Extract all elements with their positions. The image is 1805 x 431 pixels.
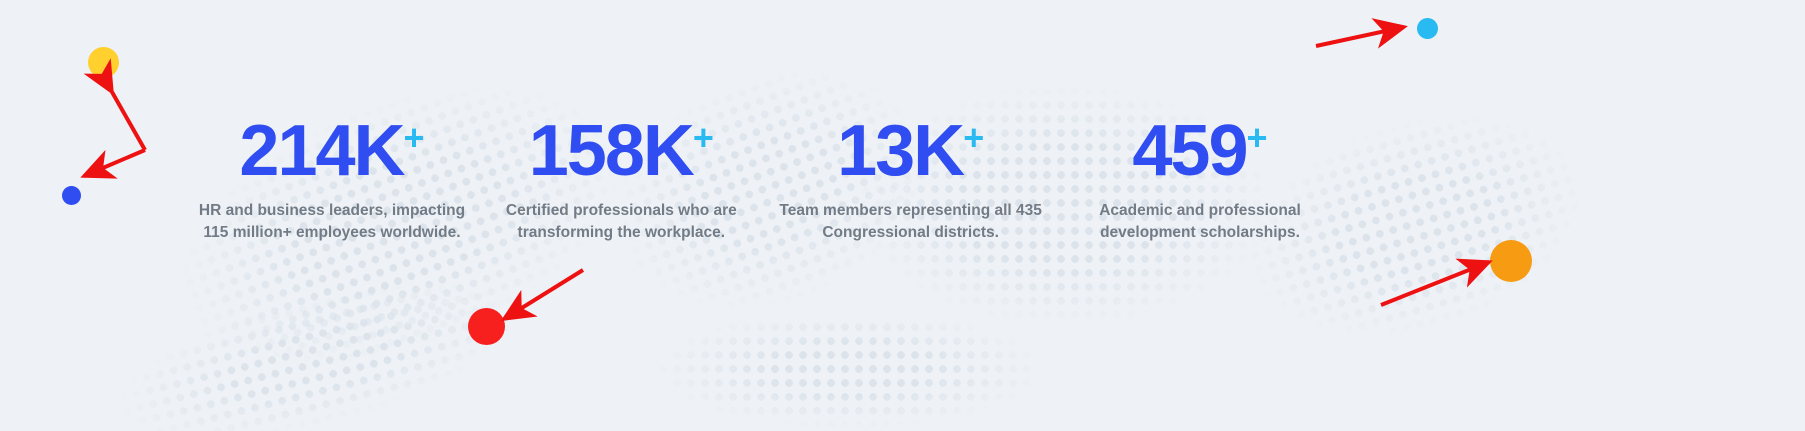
world-map-dot-pattern (50, 239, 591, 431)
stat-item: 158K+ Certified professionals who are tr… (485, 112, 757, 244)
stat-item: 214K+ HR and business leaders, impacting… (196, 112, 468, 244)
stat-value: 459+ (1064, 112, 1336, 190)
world-map-dot-pattern (600, 320, 1100, 431)
stat-number: 158K (529, 111, 693, 191)
stat-number: 459 (1132, 111, 1246, 191)
blue-dot (62, 186, 81, 205)
arrow-to-blue-dot (84, 150, 145, 176)
stat-plus-sign: + (1247, 117, 1268, 158)
stat-number: 214K (239, 111, 403, 191)
stat-value: 158K+ (485, 112, 757, 190)
stat-value: 13K+ (775, 112, 1047, 190)
stat-description: Academic and professional development sc… (1064, 200, 1336, 244)
stat-description-line: Team members representing all 435 (775, 200, 1047, 222)
stat-description-line: transforming the workplace. (485, 222, 757, 244)
statistics-row: 214K+ HR and business leaders, impacting… (196, 112, 1336, 244)
stat-item: 13K+ Team members representing all 435 C… (775, 112, 1047, 244)
stats-banner: 214K+ HR and business leaders, impacting… (0, 0, 1805, 431)
stat-description-line: Certified professionals who are (485, 200, 757, 222)
stat-description-line: HR and business leaders, impacting (196, 200, 468, 222)
arrow-to-cyan-dot (1316, 27, 1404, 46)
stat-description-line: development scholarships. (1064, 222, 1336, 244)
stat-description-line: 115 million+ employees worldwide. (196, 222, 468, 244)
red-dot (468, 308, 505, 345)
stat-description-line: Congressional districts. (775, 222, 1047, 244)
stat-item: 459+ Academic and professional developme… (1064, 112, 1336, 244)
stat-plus-sign: + (693, 117, 714, 158)
stat-plus-sign: + (963, 117, 984, 158)
stat-description: Certified professionals who are transfor… (485, 200, 757, 244)
arrow-to-yellow-dot (112, 92, 145, 150)
stat-description: HR and business leaders, impacting 115 m… (196, 200, 468, 244)
stat-description: Team members representing all 435 Congre… (775, 200, 1047, 244)
stat-value: 214K+ (196, 112, 468, 190)
stat-number: 13K (837, 111, 963, 191)
cyan-dot (1417, 18, 1438, 39)
arrow-to-orange-dot (1381, 262, 1489, 305)
stat-plus-sign: + (404, 117, 425, 158)
orange-dot (1490, 240, 1532, 282)
yellow-dot (88, 47, 119, 78)
arrow-to-red-dot (504, 270, 583, 319)
stat-description-line: Academic and professional (1064, 200, 1336, 222)
